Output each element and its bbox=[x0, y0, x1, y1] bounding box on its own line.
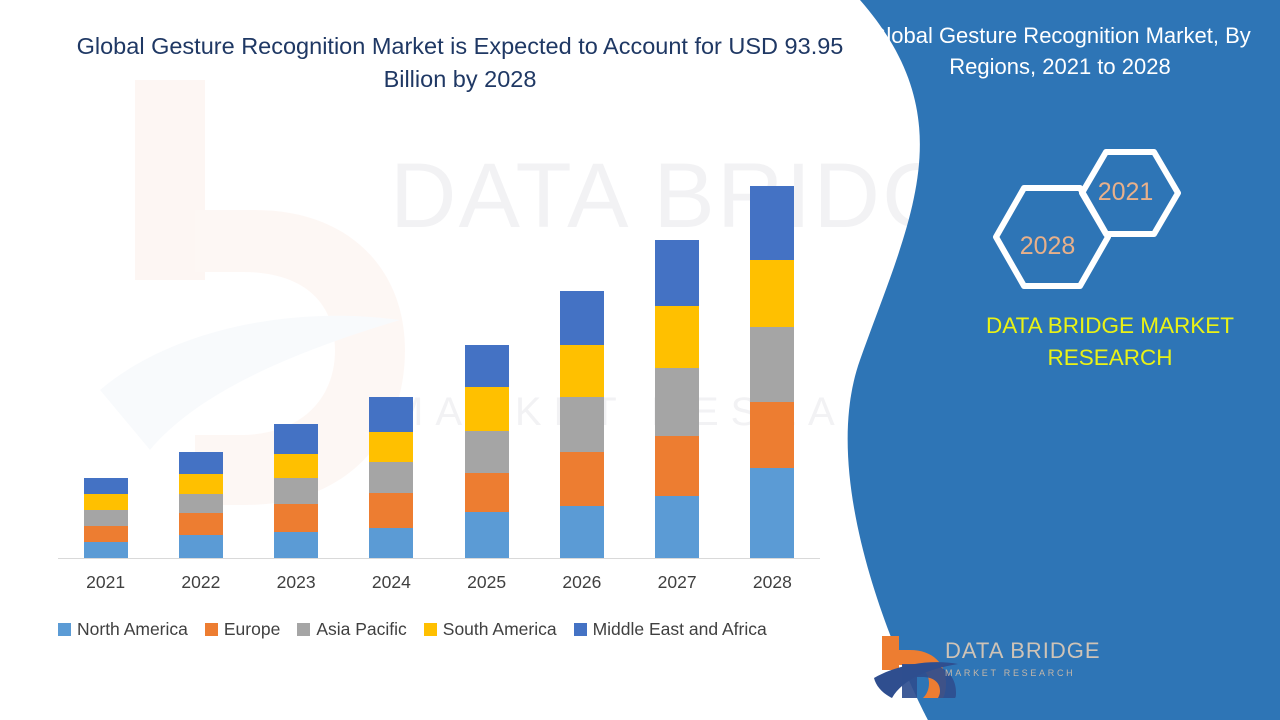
logo-text-line-2: MARKET RESEARCH bbox=[945, 669, 1115, 678]
brand-name-line-1: DATA BRIDGE MARKET bbox=[960, 310, 1260, 342]
brand-name-line-2: RESEARCH bbox=[960, 342, 1260, 374]
brand-panel-content: Global Gesture Recognition Market, By Re… bbox=[0, 0, 1280, 720]
logo-text-line-1: DATA BRIDGE bbox=[945, 640, 1115, 662]
hexagon-badges: 2021 2028 bbox=[975, 140, 1195, 300]
hexagon-2028-label: 2028 bbox=[975, 232, 1120, 261]
brand-name: DATA BRIDGE MARKET RESEARCH bbox=[960, 310, 1260, 374]
hexagon-2021-label: 2021 bbox=[1063, 178, 1188, 207]
panel-title: Global Gesture Recognition Market, By Re… bbox=[860, 20, 1260, 82]
logo-text: DATA BRIDGE MARKET RESEARCH bbox=[945, 640, 1115, 678]
